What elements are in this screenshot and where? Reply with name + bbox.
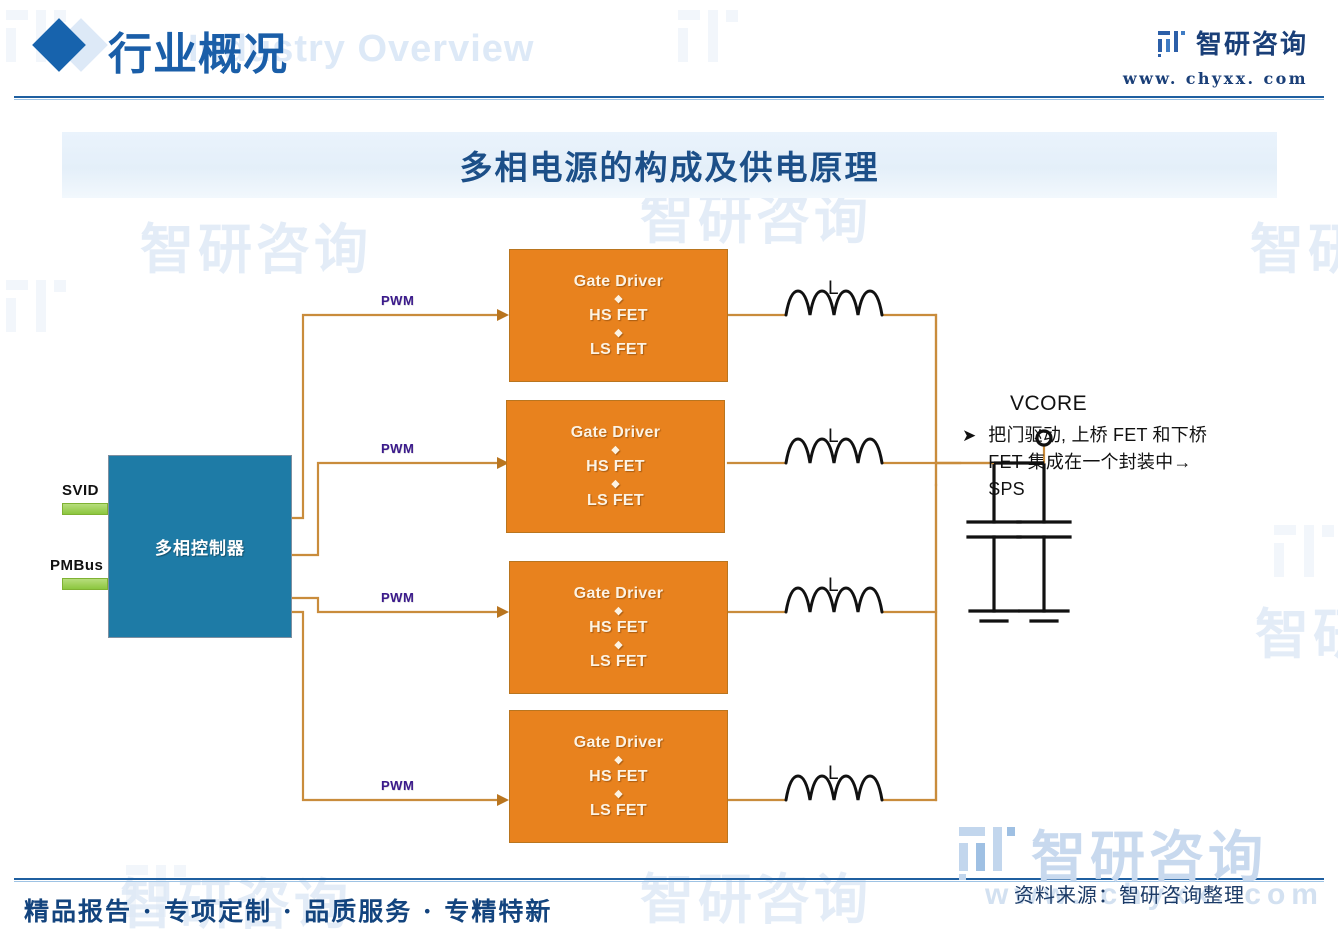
annotation-line-2: FET 集成在一个封装中→ (988, 449, 1207, 476)
annotation-text: 把门驱动, 上桥 FET 和下桥 FET 集成在一个封装中→ SPS (988, 422, 1207, 503)
gd-separator-icon: ◆ (614, 293, 622, 305)
gd-ls-fet: LS FET (590, 341, 647, 359)
gd-hs-fet: HS FET (586, 458, 645, 476)
pin-svid-label: SVID (62, 482, 99, 499)
gd-title: Gate Driver (574, 273, 664, 291)
gd-separator-icon: ◆ (614, 788, 622, 800)
gd-ls-fet: LS FET (590, 653, 647, 671)
gd-hs-fet: HS FET (589, 619, 648, 637)
annotation-note: ➤ 把门驱动, 上桥 FET 和下桥 FET 集成在一个封装中→ SPS (962, 422, 1262, 503)
zhiyan-logo-icon (1156, 28, 1186, 58)
slide-canvas: 智研咨询 智研咨询 智研咨询 智研咨询 智研咨询 智研咨询 Industry (0, 0, 1338, 940)
page-title: 行业概况 (108, 18, 288, 82)
pwm-label-3: PWM (381, 590, 414, 605)
footer-tagline: 精品报告 · 专项定制 · 品质服务 · 专精特新 (24, 892, 552, 928)
pwm-label-2: PWM (381, 441, 414, 456)
inductor-label-4: L (828, 763, 839, 785)
gd-separator-icon: ◆ (614, 754, 622, 766)
inductor-label-1: L (828, 278, 839, 300)
gd-separator-icon: ◆ (611, 444, 619, 456)
pwm-label-4: PWM (381, 778, 414, 793)
inductor-label-2: L (828, 426, 839, 448)
gd-ls-fet: LS FET (587, 492, 644, 510)
gd-separator-icon: ◆ (614, 605, 622, 617)
vcore-label: VCORE (1010, 392, 1087, 416)
brand-name: 智研咨询 (1196, 24, 1308, 61)
gate-driver-block-3[interactable]: Gate Driver ◆ HS FET ◆ LS FET (509, 561, 728, 694)
bullet-arrow-icon: ➤ (962, 422, 976, 503)
chart-title-banner: 多相电源的构成及供电原理 (62, 132, 1277, 198)
slide-header: Industry Overview 行业概况 智研咨询 www. chyxx. (0, 0, 1338, 102)
gate-driver-block-1[interactable]: Gate Driver ◆ HS FET ◆ LS FET (509, 249, 728, 382)
header-divider (14, 96, 1324, 98)
inductor-label-3: L (828, 575, 839, 597)
gate-driver-block-2[interactable]: Gate Driver ◆ HS FET ◆ LS FET (506, 400, 725, 533)
gd-ls-fet: LS FET (590, 802, 647, 820)
background-watermark: 智研咨询 (640, 855, 872, 934)
gd-title: Gate Driver (571, 424, 661, 442)
multiphase-controller-block[interactable]: 多相控制器 (108, 455, 292, 638)
gd-separator-icon: ◆ (614, 327, 622, 339)
chart-title: 多相电源的构成及供电原理 (460, 141, 880, 189)
gd-hs-fet: HS FET (589, 768, 648, 786)
controller-label: 多相控制器 (155, 534, 245, 559)
annotation-line-1: 把门驱动, 上桥 FET 和下桥 (988, 422, 1207, 449)
pin-svid[interactable] (62, 503, 108, 515)
gd-separator-icon: ◆ (614, 639, 622, 651)
annotation-line-3: SPS (988, 476, 1207, 503)
pwm-label-1: PWM (381, 293, 414, 308)
brand-url: www. chyxx. com (1123, 69, 1308, 88)
pin-pmbus-label: PMBus (50, 557, 103, 574)
gd-hs-fet: HS FET (589, 307, 648, 325)
gd-title: Gate Driver (574, 734, 664, 752)
gd-separator-icon: ◆ (611, 478, 619, 490)
brand-block: 智研咨询 www. chyxx. com (1123, 24, 1308, 88)
gate-driver-block-4[interactable]: Gate Driver ◆ HS FET ◆ LS FET (509, 710, 728, 843)
gd-title: Gate Driver (574, 585, 664, 603)
source-note: 资料来源：智研咨询整理 (1014, 879, 1245, 908)
pin-pmbus[interactable] (62, 578, 108, 590)
power-diagram: 多相控制器 SVID PMBus Gate Driver ◆ HS FET ◆ … (0, 200, 1338, 860)
